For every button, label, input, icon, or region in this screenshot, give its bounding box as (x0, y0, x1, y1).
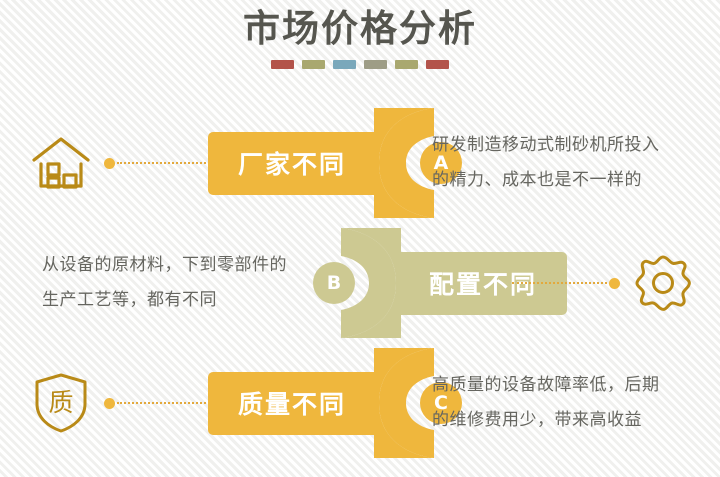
row-a: 厂家不同 A 研发制造移动式制砂机所投入的精力、成本也是不一样的 (0, 104, 720, 222)
banner-label-a: 厂家不同 (238, 145, 346, 181)
dash-blue (333, 60, 356, 69)
letter-b: B (327, 274, 341, 293)
connector-dot (609, 278, 620, 289)
description-a: 研发制造移动式制砂机所投入的精力、成本也是不一样的 (432, 128, 672, 198)
dash-gray (364, 60, 387, 69)
letter-badge-b: B (313, 262, 355, 304)
shield-glyph: 质 (48, 388, 73, 417)
connector-dot (104, 398, 115, 409)
dash-olive-1 (302, 60, 325, 69)
connector-line (117, 402, 206, 404)
connector-line (117, 162, 206, 164)
banner-a[interactable]: 厂家不同 A (208, 108, 470, 218)
dash-red-2 (426, 60, 449, 69)
arc-b: B (305, 228, 401, 338)
description-b: 从设备的原材料，下到零部件的生产工艺等，都有不同 (42, 248, 292, 318)
gear-icon (630, 248, 696, 318)
banner-bar-c: 质量不同 (208, 372, 376, 435)
infographic-canvas: 市场价格分析 厂家不同 (0, 0, 720, 477)
row-b: 从设备的原材料，下到零部件的生产工艺等，都有不同 配置不同 B (0, 224, 720, 342)
banner-label-c: 质量不同 (238, 385, 346, 421)
connector-dot (104, 158, 115, 169)
dash-olive-2 (395, 60, 418, 69)
house-icon (28, 128, 94, 198)
banner-bar-a: 厂家不同 (208, 132, 376, 195)
description-c: 高质量的设备故障率低，后期的维修费用少，带来高收益 (432, 368, 672, 438)
page-title: 市场价格分析 (0, 6, 720, 52)
shield-quality-icon: 质 (28, 368, 94, 438)
connector-line (512, 282, 607, 284)
dash-red-1 (271, 60, 294, 69)
connector-c (104, 397, 208, 409)
row-c: 质 质量不同 C 高质量的设备故障率低，后期的维修费用少，带来高收益 (0, 344, 720, 462)
connector-b (510, 277, 620, 289)
title-dash-row (0, 60, 720, 69)
banner-c[interactable]: 质量不同 C (208, 348, 470, 458)
connector-a (104, 157, 208, 169)
header: 市场价格分析 (0, 6, 720, 69)
